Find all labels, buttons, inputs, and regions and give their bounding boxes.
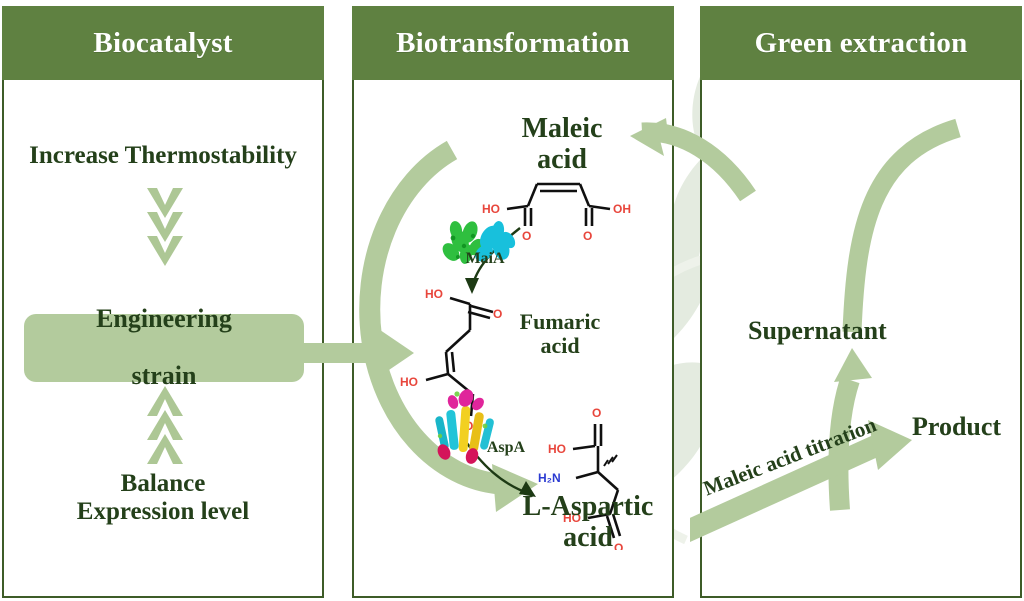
aspartic-stereo-wedge — [604, 455, 617, 466]
product-label: Product — [912, 412, 1001, 442]
maleic-OH-right: OH — [613, 202, 631, 216]
aspartic-HO-top: HO — [548, 442, 566, 456]
aspartic-O-top: O — [592, 406, 601, 420]
panel-biotransformation-title: Biotransformation — [396, 27, 630, 60]
aspartic-acid-line1: L-Aspartic — [523, 491, 654, 522]
engineering-strain-box[interactable]: Engineering strain — [24, 314, 304, 382]
maia-enzyme-label: MaiA — [455, 250, 515, 268]
balance-line2: Expression level — [77, 498, 249, 525]
aspartic-H2N: H₂N — [538, 471, 561, 485]
fumaric-acid-line2: acid — [540, 333, 579, 358]
engineering-strain-line1: Engineering — [96, 305, 232, 334]
aspartic-acid-line2: acid — [563, 522, 613, 553]
maleic-acid-line1: Maleic — [522, 113, 603, 144]
fumaric-acid-line1: Fumaric — [520, 309, 601, 334]
panel-green-extraction-header: Green extraction — [700, 6, 1022, 80]
balance-line1: Balance — [121, 470, 206, 497]
arrow-strain-to-biotransformation-icon — [298, 330, 418, 376]
figure-canvas: Biocatalyst Increase Thermostability Eng… — [0, 0, 1024, 601]
fumaric-HO-bottom: HO — [400, 375, 418, 389]
increase-thermostability-label: Increase Thermostability — [2, 142, 324, 170]
panel-biotransformation-header: Biotransformation — [352, 6, 674, 80]
balance-expression-label: Balance Expression level — [2, 470, 324, 526]
supernatant-label: Supernatant — [748, 316, 887, 346]
maleic-O-right: O — [583, 229, 592, 243]
aspa-enzyme-label: AspA — [478, 439, 534, 457]
fumaric-HO-top: HO — [425, 287, 443, 301]
engineering-strain-label: Engineering strain — [96, 305, 232, 391]
arrow-maleic-to-fumaric-head — [465, 278, 479, 294]
fumaric-acid-label: Fumaric acid — [500, 310, 620, 358]
panel-green-extraction-title: Green extraction — [755, 27, 968, 60]
panel-biocatalyst-title: Biocatalyst — [93, 27, 232, 60]
maleic-O-left: O — [522, 229, 531, 243]
triple-chevron-up-icon — [141, 386, 189, 483]
maleic-HO-left: HO — [482, 202, 500, 216]
maleic-acid-label: Maleic acid — [497, 114, 627, 176]
aspartic-acid-label: L-Aspartic acid — [498, 492, 678, 554]
maleic-acid-structure — [507, 184, 610, 226]
panel-biocatalyst-header: Biocatalyst — [2, 6, 324, 80]
triple-chevron-down-icon — [141, 186, 189, 283]
maleic-acid-line2: acid — [537, 144, 587, 175]
